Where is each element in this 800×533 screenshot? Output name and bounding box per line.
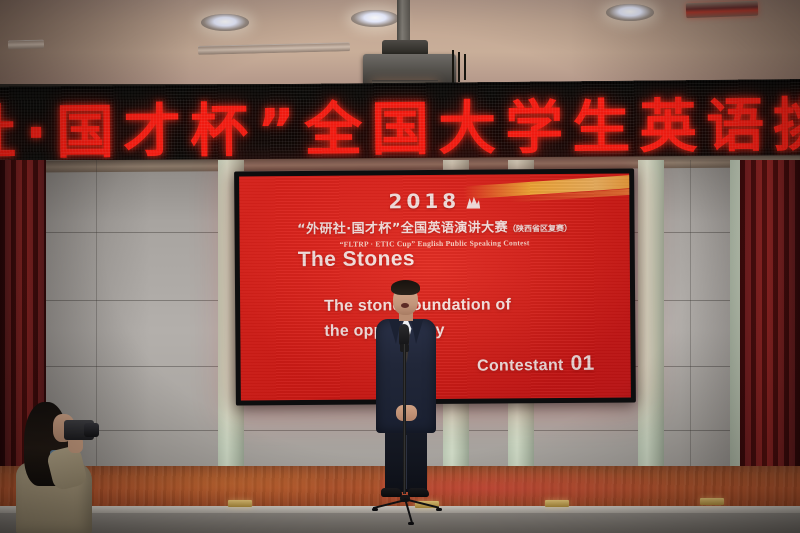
camera-lens-icon bbox=[84, 423, 99, 437]
mic-tripod-foot bbox=[408, 522, 414, 525]
stage-floor-warm-glow bbox=[90, 466, 320, 510]
slide-contestant: Contestant01 bbox=[477, 352, 595, 377]
speaker-mouth bbox=[401, 303, 409, 308]
photographer bbox=[6, 396, 110, 533]
footlight-icon bbox=[228, 500, 252, 507]
speaker-hair bbox=[391, 280, 420, 295]
mic-tripod-foot bbox=[372, 508, 378, 511]
projector-mount-pole bbox=[397, 0, 410, 44]
downlight-icon bbox=[606, 4, 654, 21]
slide-contestant-label: Contestant bbox=[477, 357, 564, 375]
downlight-icon bbox=[201, 14, 249, 31]
photo-scene: 社·国才杯”全国大学生英语挑战 2018 “外研社·国才杯”全国英语演讲大赛（陕… bbox=[0, 0, 800, 533]
mic-tripod-foot bbox=[436, 508, 442, 511]
footlight-icon bbox=[545, 500, 569, 507]
slide-contestant-number: 01 bbox=[571, 352, 595, 375]
downlight-icon bbox=[351, 10, 399, 27]
microphone-stand bbox=[384, 318, 428, 516]
ceiling-shadow-right bbox=[570, 0, 800, 84]
footlight-icon bbox=[700, 498, 724, 505]
slide-heading: The Stones bbox=[298, 247, 415, 272]
ceiling-vent bbox=[8, 40, 44, 50]
stage-apron bbox=[0, 513, 800, 533]
stage-curtain-right bbox=[740, 160, 800, 495]
ceiling-vent-red bbox=[686, 1, 758, 19]
mic-stand-pole bbox=[403, 344, 406, 494]
wall-pilaster bbox=[638, 160, 664, 470]
